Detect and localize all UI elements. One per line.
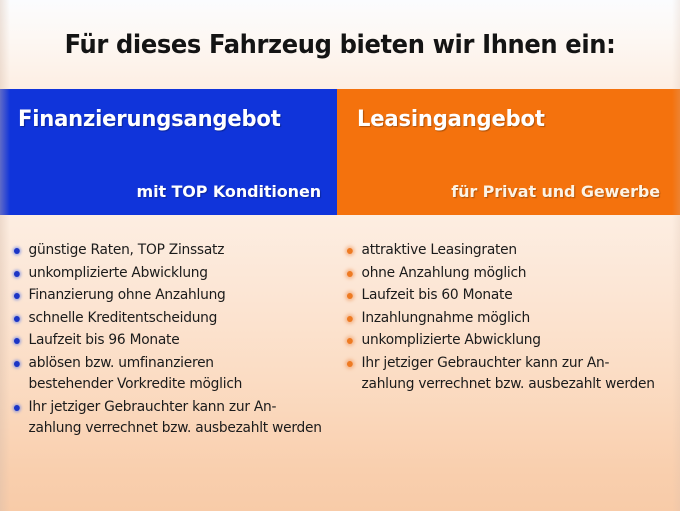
list-item: Laufzeit bis 96 Monate	[13, 330, 330, 352]
page-title: Für dieses Fahrzeug bieten wir Ihnen ein…	[24, 30, 656, 60]
leasing-banner-heading: Leasingangebot	[357, 107, 648, 132]
list-item-line: Ihr jetziger Gebrauchter kann zur An-	[362, 353, 670, 375]
list-item-line: Finanzierung ohne Anzahlung	[29, 285, 331, 307]
financing-banner-subtitle: mit TOP Konditionen	[18, 182, 321, 201]
list-item-line: zahlung verrechnet bzw. ausbezahlt werde…	[29, 418, 331, 440]
list-item-line: Inzahlungnahme möglich	[362, 308, 670, 330]
list-item-line: Laufzeit bis 60 Monate	[362, 285, 670, 307]
list-item: Ihr jetziger Gebrauchter kann zur An-zah…	[13, 397, 330, 440]
list-item: attraktive Leasingraten	[346, 240, 670, 262]
list-item: unkomplizierte Abwicklung	[13, 263, 330, 285]
list-item-line: Ihr jetziger Gebrauchter kann zur An-	[29, 397, 331, 419]
list-item: günstige Raten, TOP Zinssatz	[13, 240, 330, 262]
list-item-line: zahlung verrechnet bzw. ausbezahlt werde…	[362, 374, 670, 396]
list-item: schnelle Kreditentscheidung	[13, 308, 330, 330]
benefits-columns: günstige Raten, TOP Zinssatzunkomplizier…	[0, 240, 680, 441]
list-item-line: ablösen bzw. umfinanzieren	[29, 353, 331, 375]
list-item-line: schnelle Kreditentscheidung	[29, 308, 331, 330]
leasing-offer-banner[interactable]: Leasingangebot für Privat und Gewerbe	[337, 89, 680, 215]
list-item-line: unkomplizierte Abwicklung	[362, 330, 670, 352]
list-item: Ihr jetziger Gebrauchter kann zur An-zah…	[346, 353, 670, 396]
list-item-line: unkomplizierte Abwicklung	[29, 263, 331, 285]
offer-poster: Für dieses Fahrzeug bieten wir Ihnen ein…	[0, 0, 680, 511]
list-item: Finanzierung ohne Anzahlung	[13, 285, 330, 307]
list-item-line: attraktive Leasingraten	[362, 240, 670, 262]
financing-benefits-column: günstige Raten, TOP Zinssatzunkomplizier…	[0, 240, 340, 441]
list-item: ablösen bzw. umfinanzierenbestehender Vo…	[13, 353, 330, 396]
list-item: ohne Anzahlung möglich	[346, 263, 670, 285]
leasing-banner-subtitle: für Privat und Gewerbe	[357, 182, 660, 201]
list-item: Inzahlungnahme möglich	[346, 308, 670, 330]
financing-offer-banner[interactable]: Finanzierungsangebot mit TOP Konditionen	[0, 89, 337, 215]
financing-banner-heading: Finanzierungsangebot	[18, 107, 309, 132]
list-item: Laufzeit bis 60 Monate	[346, 285, 670, 307]
list-item: unkomplizierte Abwicklung	[346, 330, 670, 352]
list-item-line: bestehender Vorkredite möglich	[29, 374, 331, 396]
leasing-benefits-list: attraktive Leasingratenohne Anzahlung mö…	[346, 240, 680, 396]
list-item-line: Laufzeit bis 96 Monate	[29, 330, 331, 352]
offer-banner-row: Finanzierungsangebot mit TOP Konditionen…	[0, 89, 680, 215]
list-item-line: ohne Anzahlung möglich	[362, 263, 670, 285]
financing-benefits-list: günstige Raten, TOP Zinssatzunkomplizier…	[13, 240, 340, 440]
list-item-line: günstige Raten, TOP Zinssatz	[29, 240, 331, 262]
